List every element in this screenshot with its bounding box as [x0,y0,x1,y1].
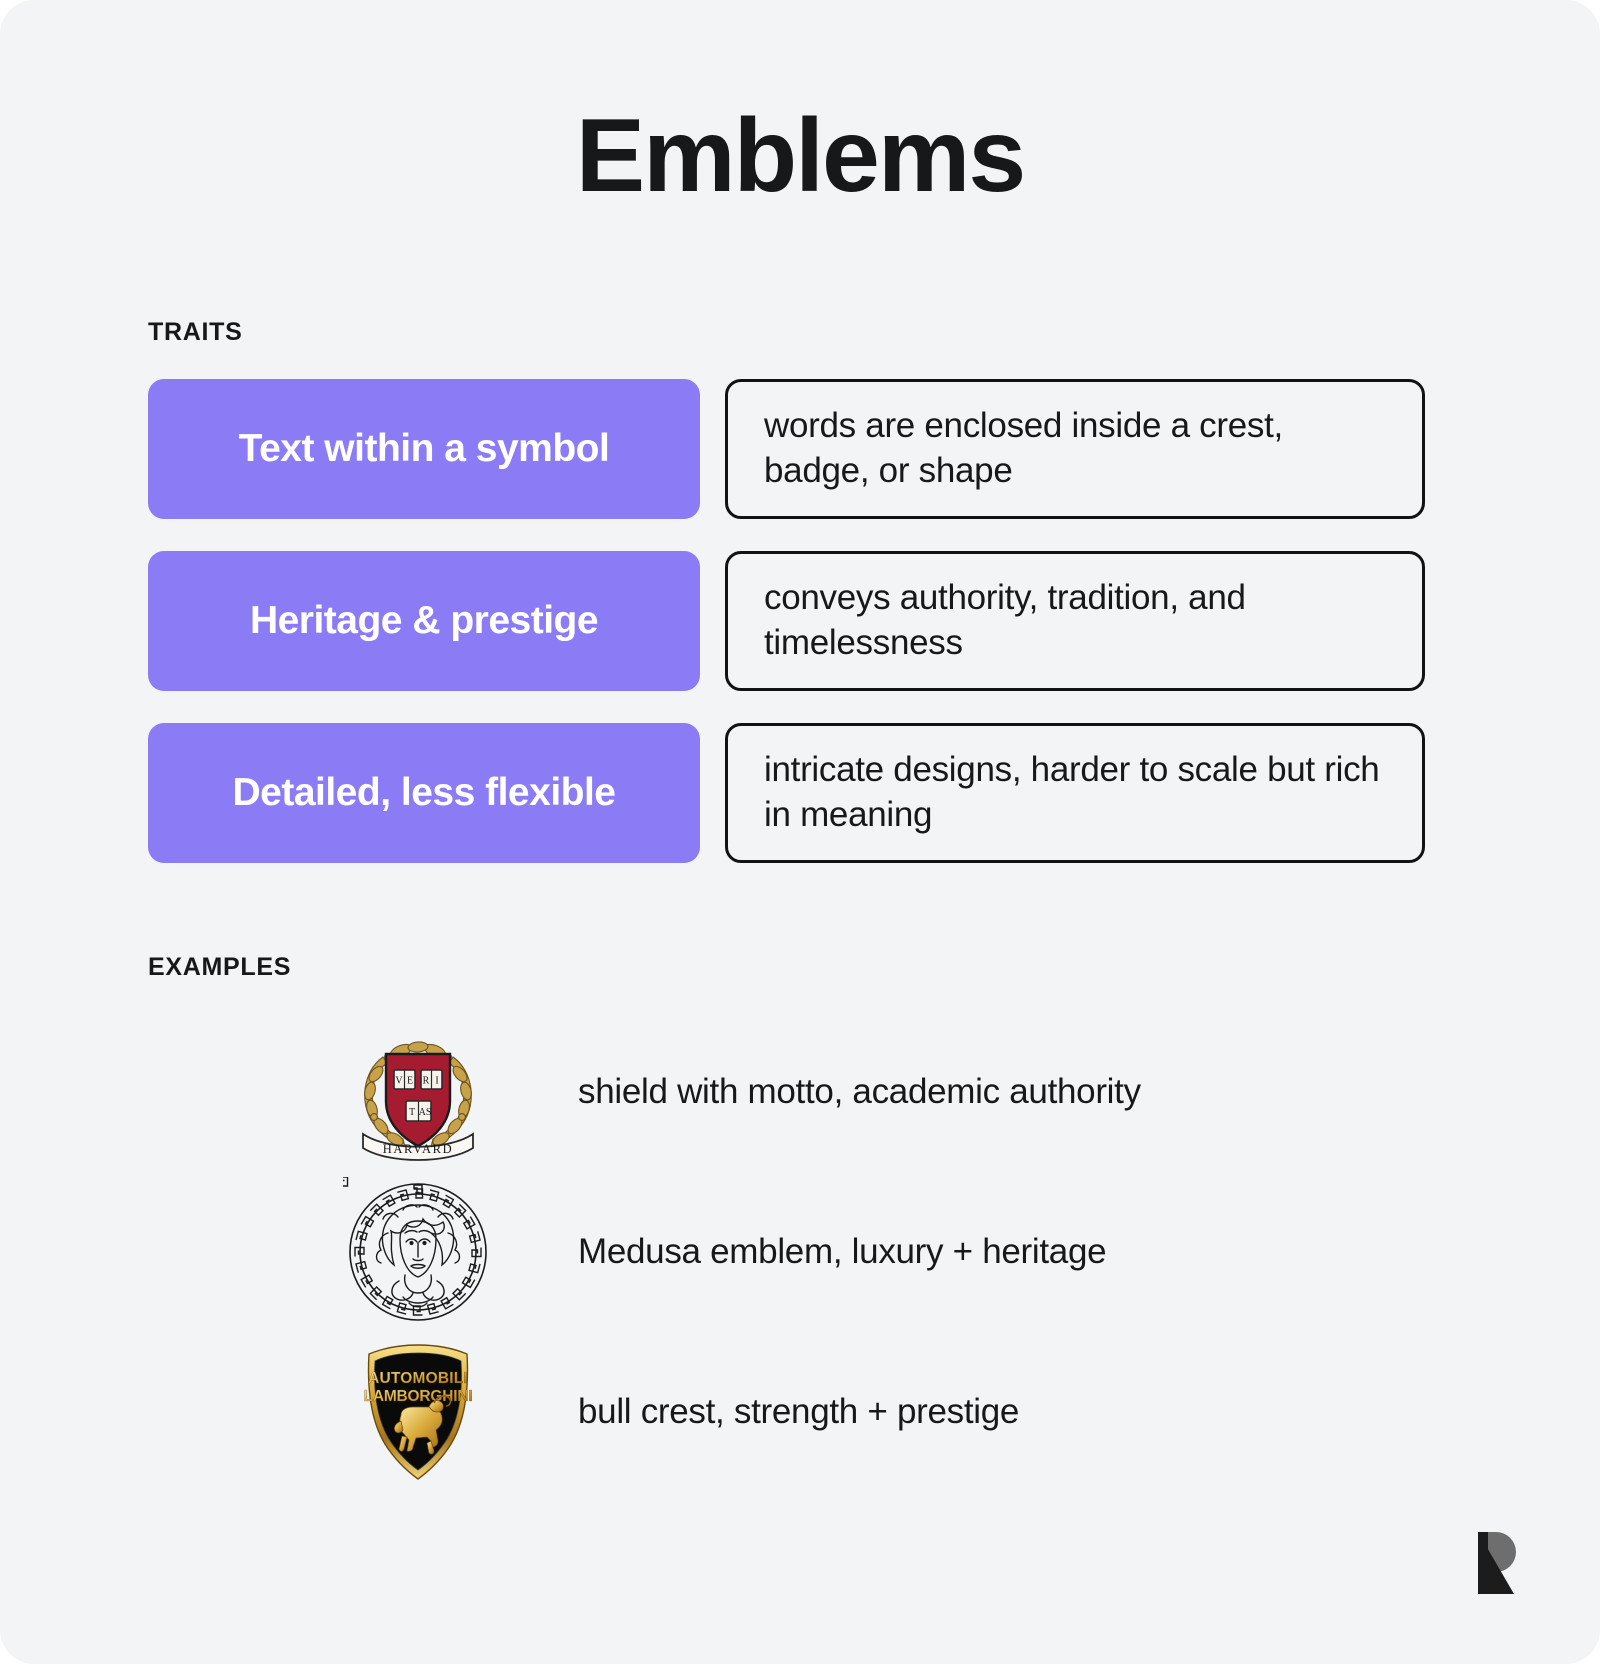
svg-text:V: V [395,1076,403,1087]
harvard-book-ri: R I [421,1070,442,1089]
lamborghini-shield-icon: AUTOMOBILI LAMBORGHINI [343,1337,493,1487]
page-title: Emblems [0,104,1600,208]
trait-description-box: conveys authority, tradition, and timele… [725,551,1425,691]
examples-section-label: EXAMPLES [148,953,1600,982]
slide-canvas: Emblems TRAITS Text within a symbol word… [0,0,1600,1664]
trait-description-text: words are enclosed inside a crest, badge… [764,404,1386,494]
traits-section-label: TRAITS [148,318,1600,347]
brand-mark-r [1466,1524,1526,1602]
example-row: V E R I T AS [0,1012,1600,1172]
trait-description-box: intricate designs, harder to scale but r… [725,723,1425,863]
trait-chip-detailed-less-flexible[interactable]: Detailed, less flexible [148,723,700,863]
lamborghini-shield-logo: AUTOMOBILI LAMBORGHINI [268,1337,568,1487]
versace-medusa-logo [268,1177,568,1327]
trait-row: Text within a symbol words are enclosed … [148,379,1600,519]
trait-description-text: conveys authority, tradition, and timele… [764,576,1386,666]
brand-mark-r-icon [1466,1524,1526,1602]
trait-chip-label: Heritage & prestige [250,599,598,644]
svg-text:E: E [407,1076,413,1087]
example-row: Medusa emblem, luxury + heritage [0,1172,1600,1332]
trait-row: Detailed, less flexible intricate design… [148,723,1600,863]
example-row: AUTOMOBILI LAMBORGHINI bull crest, stren… [0,1332,1600,1492]
harvard-crest-icon: V E R I T AS [343,1017,493,1167]
harvard-book-ve: V E [394,1070,415,1089]
example-description: shield with motto, academic authority [578,1072,1141,1112]
trait-chip-text-within-a-symbol[interactable]: Text within a symbol [148,379,700,519]
lamborghini-wordmark-line2: LAMBORGHINI [364,1388,473,1405]
harvard-book-tas: T AS [406,1101,431,1121]
trait-chip-label: Detailed, less flexible [232,771,615,816]
versace-medusa-icon [343,1177,493,1327]
trait-description-text: intricate designs, harder to scale but r… [764,748,1386,838]
svg-text:I: I [435,1076,438,1087]
trait-chip-label: Text within a symbol [239,427,610,472]
svg-text:HARVARD: HARVARD [383,1142,453,1156]
harvard-shield [386,1054,450,1146]
svg-text:AS: AS [419,1107,432,1118]
trait-description-box: words are enclosed inside a crest, badge… [725,379,1425,519]
example-description: bull crest, strength + prestige [578,1392,1019,1432]
lamborghini-wordmark-line1: AUTOMOBILI [368,1370,468,1387]
harvard-crest-logo: V E R I T AS [268,1017,568,1167]
traits-list: Text within a symbol words are enclosed … [148,379,1600,863]
svg-text:T: T [409,1107,415,1118]
trait-chip-heritage-and-prestige[interactable]: Heritage & prestige [148,551,700,691]
examples-list: V E R I T AS [0,1012,1600,1492]
example-description: Medusa emblem, luxury + heritage [578,1232,1106,1272]
svg-text:R: R [423,1076,430,1087]
trait-row: Heritage & prestige conveys authority, t… [148,551,1600,691]
